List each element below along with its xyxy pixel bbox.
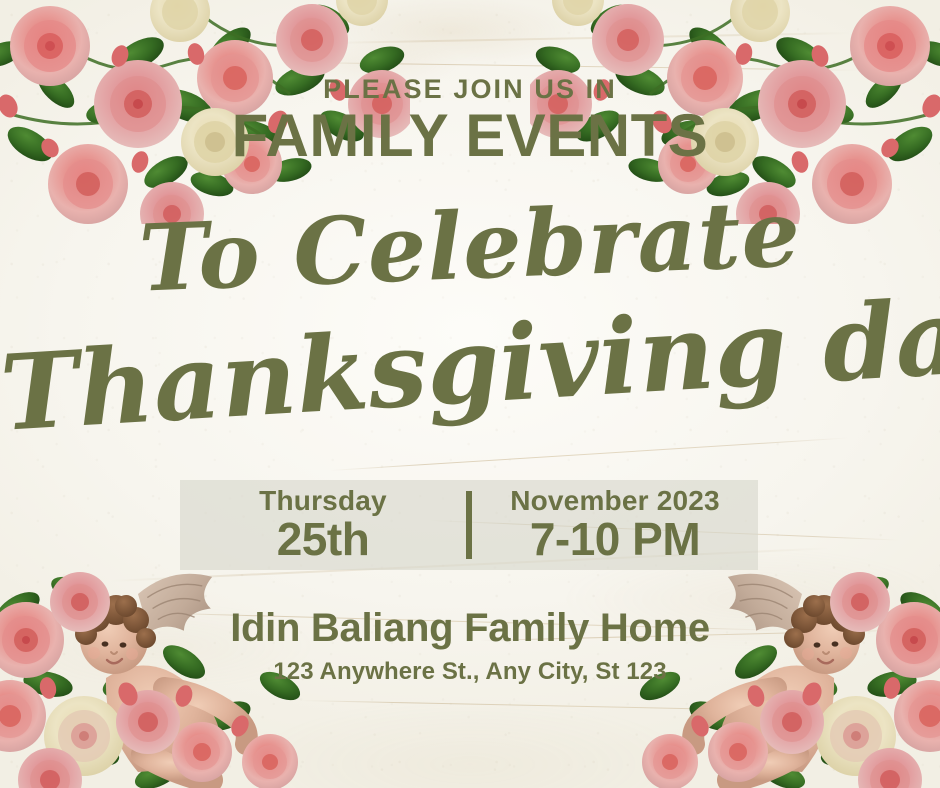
venue-name: Idin Baliang Family Home <box>0 608 940 648</box>
venue-address: 123 Anywhere St., Any City, St 123 <box>0 660 940 684</box>
eyebrow-text: PLEASE JOIN US IN <box>0 76 940 103</box>
time-range: 7-10 PM <box>472 516 758 563</box>
day-number: 25th <box>180 516 466 563</box>
weekday-label: Thursday <box>180 487 466 516</box>
month-year-label: November 2023 <box>472 487 758 516</box>
invitation-content: PLEASE JOIN US IN FAMILY EVENTS To Celeb… <box>0 0 940 788</box>
page-title: FAMILY EVENTS <box>0 106 940 166</box>
date-column: Thursday 25th <box>180 487 466 563</box>
date-time-band: Thursday 25th November 2023 7-10 PM <box>180 480 758 570</box>
script-headline-block: To Celebrate Thanksgiving day <box>0 186 940 456</box>
time-column: November 2023 7-10 PM <box>472 487 758 563</box>
invitation-poster: PLEASE JOIN US IN FAMILY EVENTS To Celeb… <box>0 0 940 788</box>
